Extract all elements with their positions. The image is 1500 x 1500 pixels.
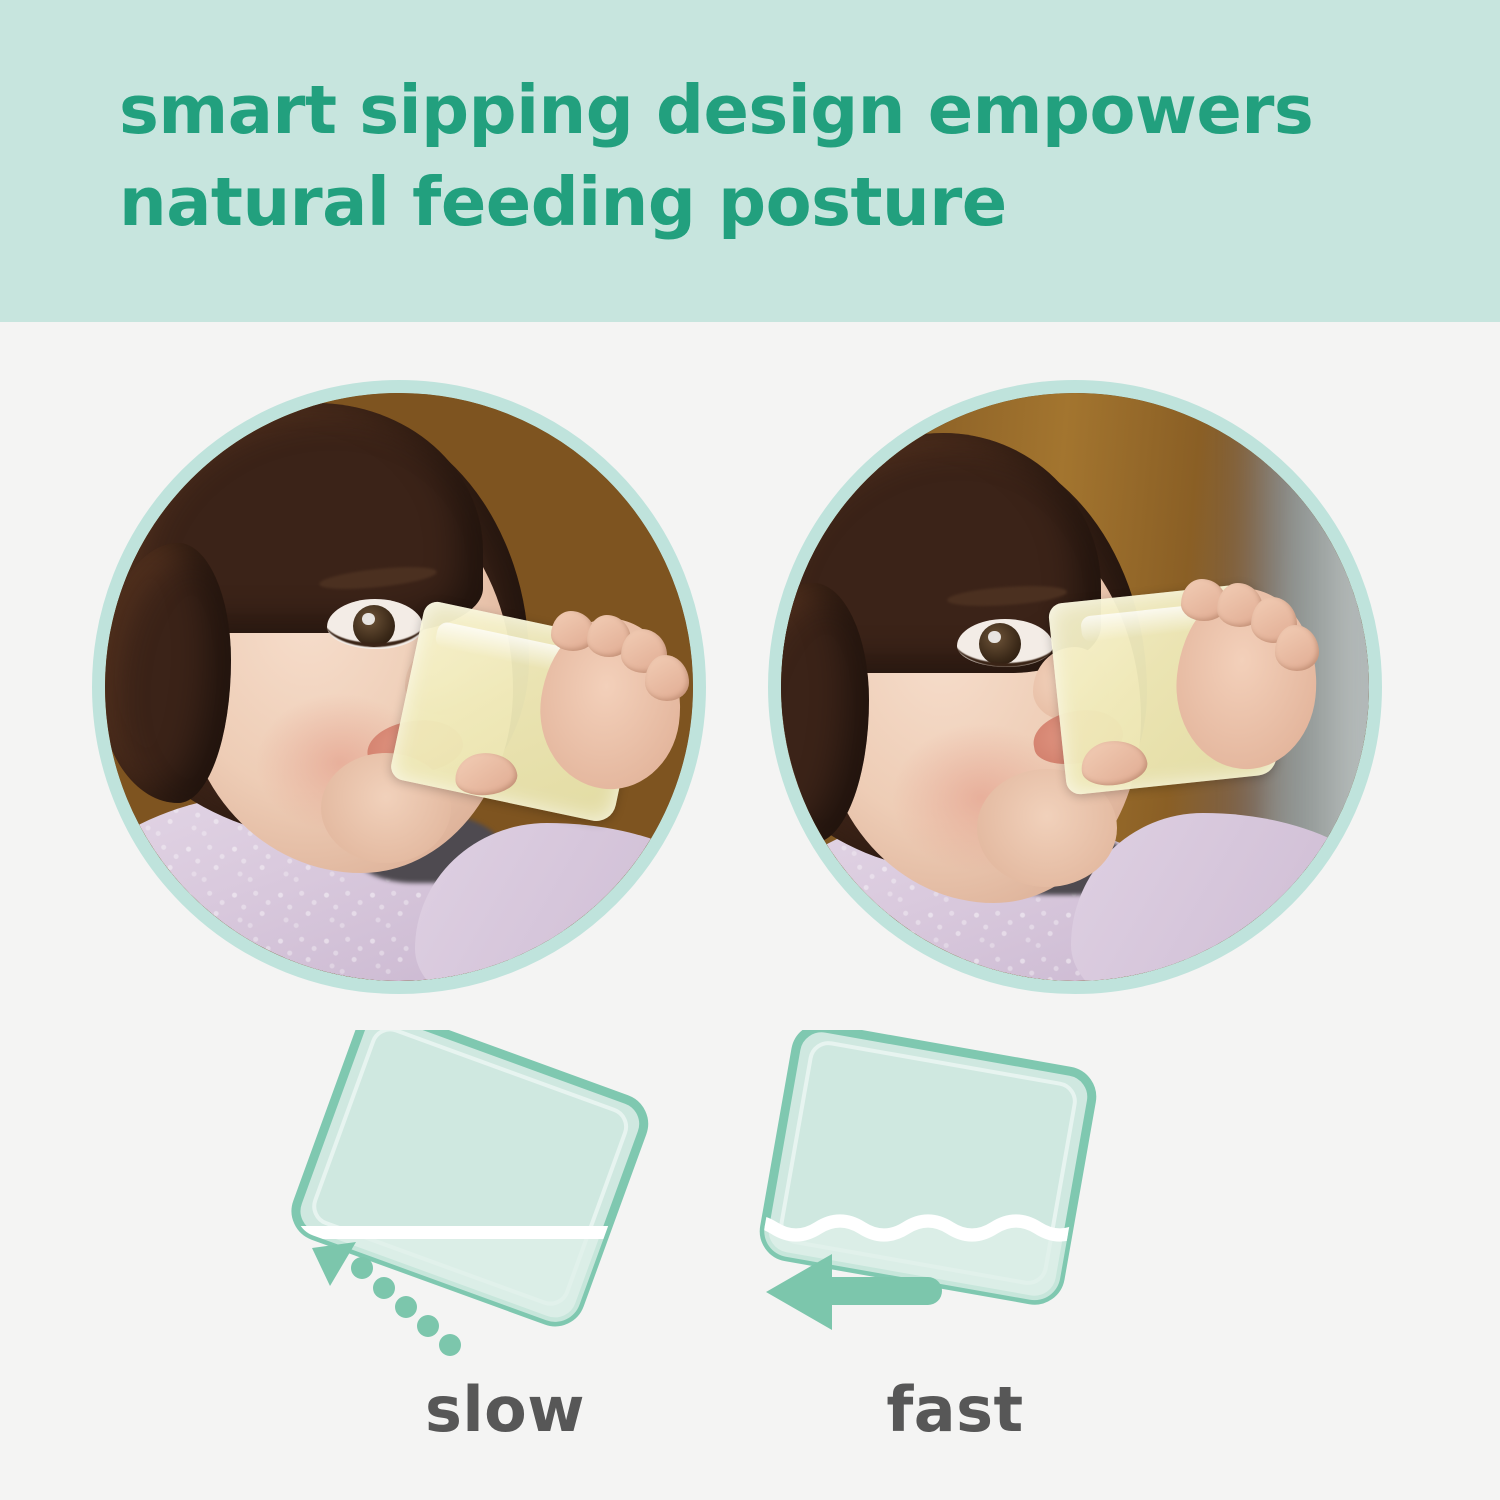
toddler-drinking-right-image	[781, 393, 1369, 981]
toddler-drinking-left-image	[105, 393, 693, 981]
photo-circle-left	[92, 380, 706, 994]
bottom-strip	[0, 1477, 1500, 1499]
page-title: smart sipping design empowers natural fe…	[119, 64, 1439, 249]
photo-row	[0, 378, 1500, 1000]
slow-label: slow	[290, 1373, 720, 1446]
photo-circle-right	[768, 380, 1382, 994]
diagram-slow: slow	[290, 1030, 720, 1470]
fast-label: fast	[740, 1373, 1170, 1446]
header-banner: smart sipping design empowers natural fe…	[0, 0, 1500, 322]
diagram-fast: fast	[740, 1030, 1170, 1470]
slow-liquid-line	[290, 1226, 720, 1359]
diagram-row: slow fast	[0, 1030, 1500, 1500]
